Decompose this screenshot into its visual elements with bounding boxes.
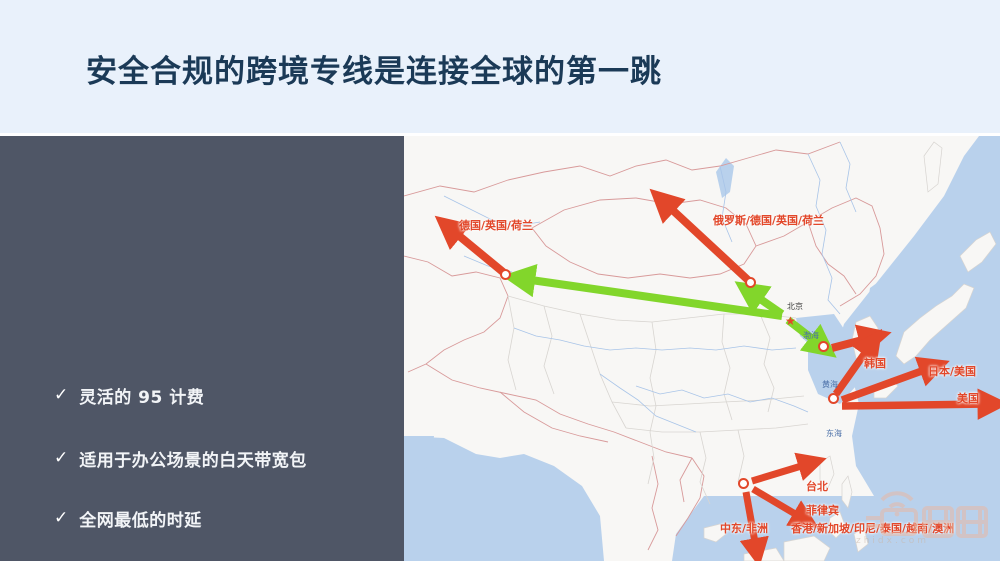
network-map: ★ 北京 德国/英国/荷兰 俄罗斯/德国/英国/荷兰 韩国 日本/美国 美国 台… — [404, 136, 1000, 561]
node-qingdao[interactable] — [818, 341, 829, 352]
node-north[interactable] — [745, 277, 756, 288]
check-icon: ✓ — [54, 450, 68, 467]
bullet-label: 灵活的 95 计费 — [79, 383, 204, 408]
label-japan-usa: 日本/美国 — [928, 363, 976, 379]
label-taipei: 台北 — [806, 478, 828, 494]
sea-label-bohai: 渤海 — [803, 330, 819, 341]
bullet-label: 全网最低的时延 — [79, 506, 202, 531]
bullet-label: 适用于办公场景的白天带宽包 — [79, 446, 307, 471]
node-northwest[interactable] — [500, 269, 511, 280]
sea-label-yellow: 黄海 — [822, 379, 838, 390]
label-korea: 韩国 — [864, 355, 886, 371]
node-shanghai[interactable] — [828, 393, 839, 404]
label-usa: 美国 — [957, 390, 979, 406]
map-canvas — [404, 136, 1000, 561]
list-item: ✓ 全网最低的时延 — [54, 506, 202, 531]
feature-panel: ✓ 灵活的 95 计费 ✓ 适用于办公场景的白天带宽包 ✓ 全网最低的时延 ✓ … — [0, 136, 404, 561]
beijing-star-icon: ★ — [785, 315, 796, 327]
label-russia-germany-uk-netherlands: 俄罗斯/德国/英国/荷兰 — [713, 212, 824, 228]
list-item: ✓ 适用于办公场景的白天带宽包 — [54, 446, 307, 471]
list-item: ✓ 灵活的 95 计费 — [54, 383, 204, 408]
label-hongkong-singapore-indonesia: 香港/新加坡/印尼/泰国/越南/澳洲 — [791, 520, 954, 536]
slide-root: 安全合规的跨境专线是连接全球的第一跳 ✓ 灵活的 95 计费 ✓ 适用于办公场景… — [0, 0, 1000, 561]
node-guangzhou[interactable] — [738, 478, 749, 489]
city-label-beijing: 北京 — [787, 301, 803, 312]
sea-label-east-china: 东海 — [826, 428, 842, 439]
label-philippines: 菲律宾 — [806, 502, 839, 518]
label-middleeast-africa: 中东/非洲 — [720, 520, 768, 536]
check-icon: ✓ — [54, 510, 68, 527]
header-band: 安全合规的跨境专线是连接全球的第一跳 — [0, 0, 1000, 133]
page-title: 安全合规的跨境专线是连接全球的第一跳 — [86, 46, 662, 91]
label-germany-uk-netherlands: 德国/英国/荷兰 — [459, 217, 533, 233]
check-icon: ✓ — [54, 387, 68, 404]
